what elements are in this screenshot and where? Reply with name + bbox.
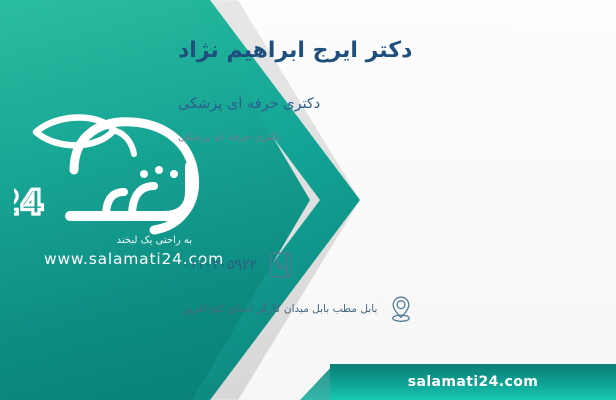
footer-bar: salamati24.com — [330, 364, 616, 400]
phone-number: ۰۱۱۰۳۰۵۹۲۲ — [182, 257, 257, 273]
doctor-name: دکتر ایرج ابراهیم نژاد — [178, 38, 598, 63]
business-card: 24 به راحتی یک لبخند www.salamati24.com … — [0, 0, 616, 400]
apple-logo-icon: 24 — [14, 108, 254, 243]
svg-text:24: 24 — [14, 183, 44, 223]
phone-row: ۰۱۱۰۳۰۵۹۲۲ — [182, 250, 602, 280]
logo-tagline: به راحتی یک لبخند — [117, 235, 192, 246]
footer-website-url: salamati24.com — [408, 374, 538, 390]
map-pin-icon — [387, 294, 415, 324]
phone-book-icon — [267, 250, 295, 280]
doctor-specialty-secondary: دکتری حرفه ای پزشکی — [178, 131, 598, 143]
address-row: بابل مطب بابل میدان کارگر ابتدای کنج افر… — [182, 294, 602, 324]
clinic-address: بابل مطب بابل میدان کارگر ابتدای کنج افر… — [182, 303, 377, 315]
doctor-specialty: دکتری حرفه ای پزشکی — [178, 96, 598, 112]
